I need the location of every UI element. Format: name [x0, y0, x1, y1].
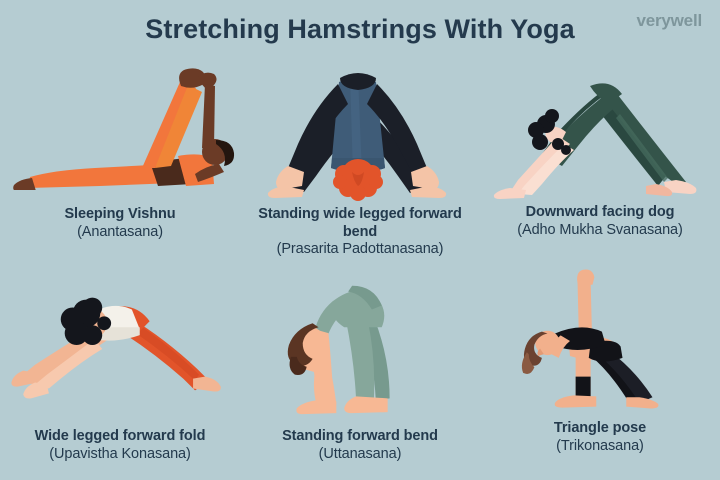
downward-facing-dog-illustration	[480, 52, 720, 202]
pose-name: Triangle pose	[554, 420, 646, 438]
sleeping-vishnu-illustration	[0, 52, 240, 202]
pose-name: Downward facing dog	[517, 204, 682, 222]
infographic-page: Stretching Hamstrings With Yoga verywell	[0, 0, 720, 480]
pose-sanskrit-name: (Anantasana)	[64, 224, 175, 242]
pose-card-standing-forward-bend: Standing forward bend (Uttanasana)	[240, 266, 480, 480]
pose-name: Standing forward bend	[282, 428, 438, 446]
pose-name: Sleeping Vishnu	[64, 206, 175, 224]
pose-card-downward-facing-dog: Downward facing dog (Adho Mukha Svanasan…	[480, 52, 720, 266]
pose-card-sleeping-vishnu: Sleeping Vishnu (Anantasana)	[0, 52, 240, 266]
pose-caption: Downward facing dog (Adho Mukha Svanasan…	[517, 204, 682, 239]
pose-sanskrit-name: (Upavistha Konasana)	[35, 446, 206, 464]
pose-name: Standing wide legged forward bend	[240, 206, 480, 241]
pose-grid: Sleeping Vishnu (Anantasana)	[0, 52, 720, 480]
standing-forward-bend-illustration	[240, 266, 480, 424]
pose-card-wide-legged-forward-fold: Wide legged forward fold (Upavistha Kona…	[0, 266, 240, 480]
pose-sanskrit-name: (Uttanasana)	[282, 446, 438, 464]
pose-sanskrit-name: (Prasarita Padottanasana)	[240, 241, 480, 259]
verywell-logo: verywell	[636, 11, 702, 31]
page-title: Stretching Hamstrings With Yoga	[0, 14, 720, 45]
pose-caption: Standing forward bend (Uttanasana)	[282, 428, 438, 463]
wide-legged-forward-fold-illustration	[0, 266, 240, 424]
pose-caption: Sleeping Vishnu (Anantasana)	[64, 206, 175, 241]
standing-wide-legged-forward-bend-illustration	[240, 52, 480, 202]
pose-sanskrit-name: (Trikonasana)	[554, 438, 646, 456]
pose-caption: Wide legged forward fold (Upavistha Kona…	[35, 428, 206, 463]
pose-card-standing-wide-legged-forward-bend: Standing wide legged forward bend (Prasa…	[240, 52, 480, 266]
pose-card-triangle-pose: Triangle pose (Trikonasana)	[480, 266, 720, 480]
triangle-pose-illustration	[480, 266, 720, 416]
pose-caption: Standing wide legged forward bend (Prasa…	[240, 206, 480, 259]
pose-caption: Triangle pose (Trikonasana)	[554, 420, 646, 455]
pose-name: Wide legged forward fold	[35, 428, 206, 446]
pose-sanskrit-name: (Adho Mukha Svanasana)	[517, 222, 682, 240]
